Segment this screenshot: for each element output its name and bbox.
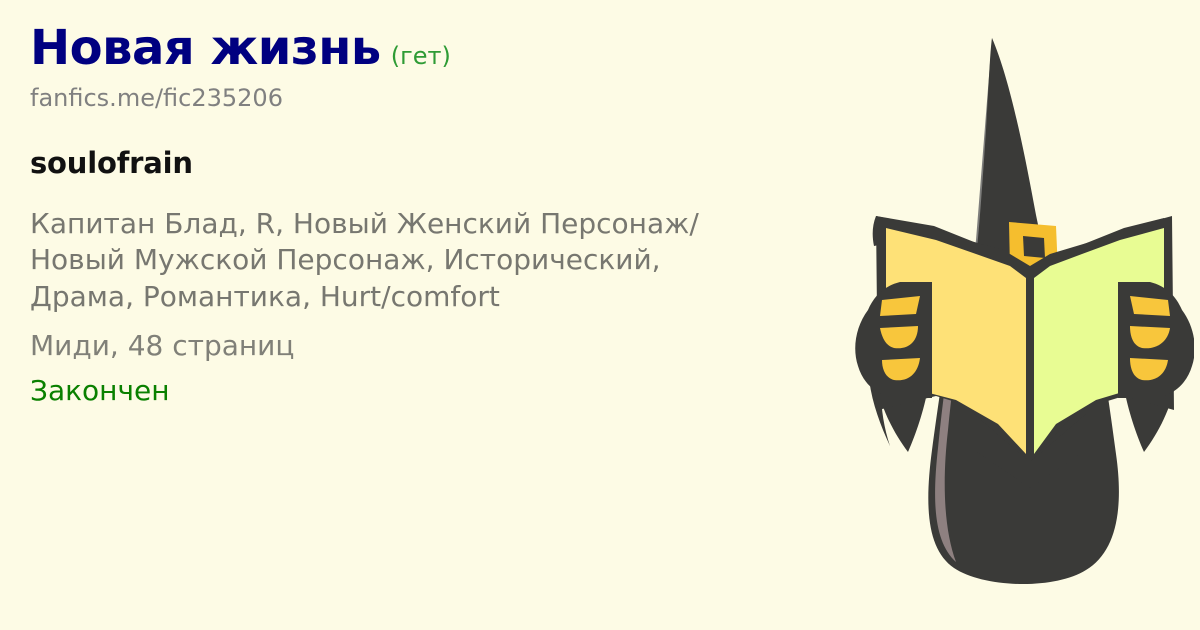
- right-hand-icon: [1118, 282, 1194, 398]
- fic-url[interactable]: fanfics.me/fic235206: [30, 84, 790, 112]
- fic-category-label: (гет): [391, 42, 451, 70]
- author-name[interactable]: soulofrain: [30, 146, 790, 180]
- fic-info-column: Новая жизнь(гет) fanfics.me/fic235206 so…: [30, 24, 790, 407]
- title-row: Новая жизнь(гет): [30, 24, 790, 72]
- status-badge: Закончен: [30, 374, 790, 407]
- witch-reading-book-illustration: [824, 10, 1194, 625]
- fic-tags: Капитан Блад, R, Новый Женский Персонаж/…: [30, 206, 770, 315]
- book-spine-shape: [1027, 276, 1031, 462]
- left-hand-icon: [855, 282, 932, 398]
- page-title: Новая жизнь: [30, 20, 381, 76]
- buckle-inner-hole: [1023, 236, 1045, 258]
- fic-size-and-pages: Миди, 48 страниц: [30, 329, 790, 362]
- fic-preview-card: Новая жизнь(гет) fanfics.me/fic235206 so…: [0, 0, 1200, 630]
